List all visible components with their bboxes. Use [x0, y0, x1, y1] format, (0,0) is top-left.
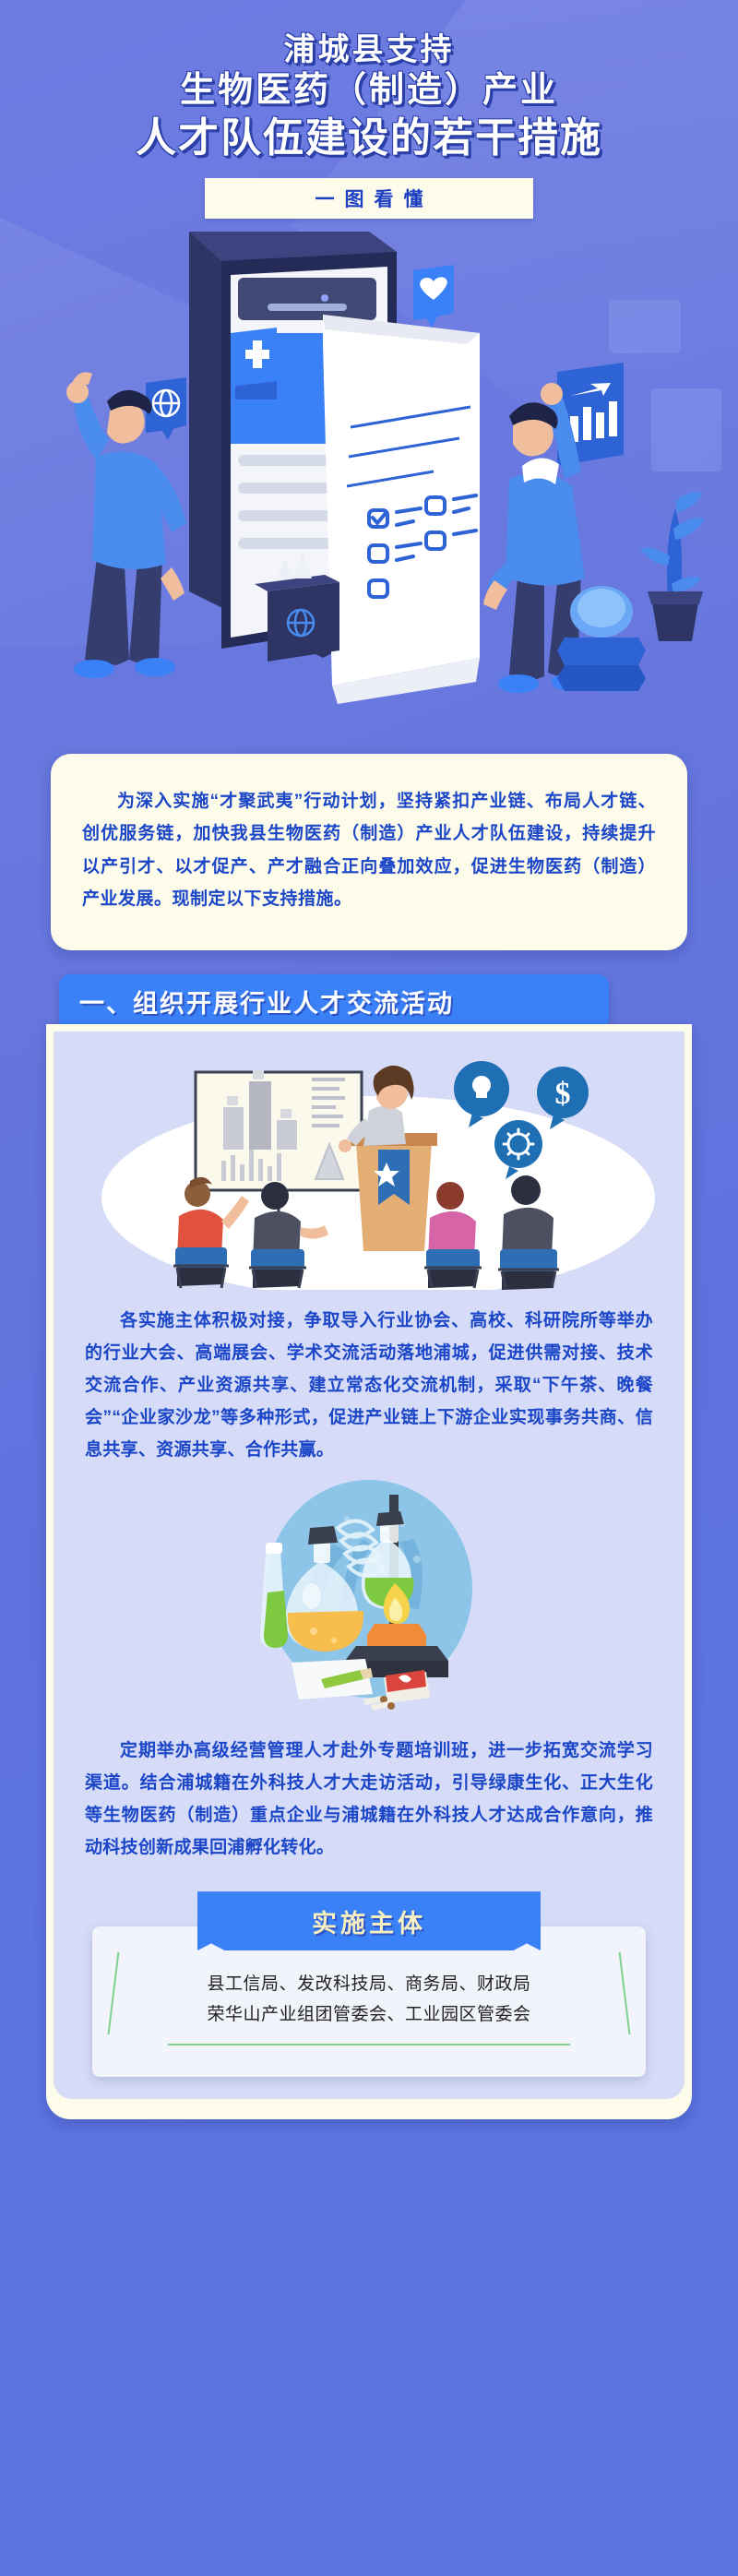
globe-badge-icon [146, 377, 186, 440]
floating-cards-icon [609, 300, 721, 471]
implementing-body-ribbon: 实施主体 [197, 1891, 541, 1950]
section-1-paragraph-2: 定期举办高级经营管理人才赴外专题培训班，进一步拓宽交流学习渠道。结合浦城籍在外科… [54, 1720, 684, 1868]
title-line-2: 生物医药（制造）产业 [0, 71, 738, 109]
section-1-body: $ [46, 1024, 692, 2119]
section-1-title: 一、组织开展行业人才交流活动 [79, 984, 454, 1020]
hero-illustration [0, 224, 738, 741]
potted-plant-icon [640, 492, 705, 641]
subtitle-banner: 一图看懂 [205, 178, 533, 219]
implementing-body-line-1: 县工信局、发改科技局、商务局、财政局 [137, 1969, 601, 1999]
section-1-paragraph-1: 各实施主体积极对接，争取导入行业协会、高校、科研院所等举办的行业大会、高端展会、… [54, 1290, 684, 1471]
heart-badge-icon [413, 265, 454, 328]
page-title: 浦城县支持 生物医药（制造）产业 人才队伍建设的若干措施 一图看懂 [0, 0, 738, 219]
infographic-page: 浦城县支持 生物医药（制造）产业 人才队伍建设的若干措施 一图看懂 [0, 0, 738, 2576]
title-line-3: 人才队伍建设的若干措施 [0, 116, 738, 161]
implementing-body-divider [168, 2044, 570, 2045]
document-scroll-icon [323, 315, 480, 704]
title-line-1: 浦城县支持 [0, 33, 738, 67]
section-1: 一、组织开展行业人才交流活动 [46, 974, 692, 2119]
implementing-body-label: 实施主体 [312, 1903, 426, 1939]
implementing-body-line-2: 荣华山产业组团管委会、工业园区管委会 [137, 1999, 601, 2030]
intro-text: 为深入实施“才聚武夷”行动计划，坚持紧扣产业链、布局人才链、创优服务链，加快我县… [82, 785, 656, 915]
section-1-header: 一、组织开展行业人才交流活动 [59, 974, 609, 1030]
subtitle-text: 一图看懂 [305, 185, 434, 212]
chemistry-lab-illustration [54, 1471, 684, 1720]
implementing-body-block: 实施主体 县工信局、发改科技局、商务局、财政局 荣华山产业组团管委会、工业园区管… [92, 1891, 646, 2077]
plus-badge-icon [231, 328, 277, 387]
intro-card: 为深入实施“才聚武夷”行动计划，坚持紧扣产业链、布局人才链、创优服务链，加快我县… [51, 754, 687, 950]
conference-illustration: $ [54, 1041, 684, 1290]
svg-text:$: $ [555, 1077, 571, 1111]
